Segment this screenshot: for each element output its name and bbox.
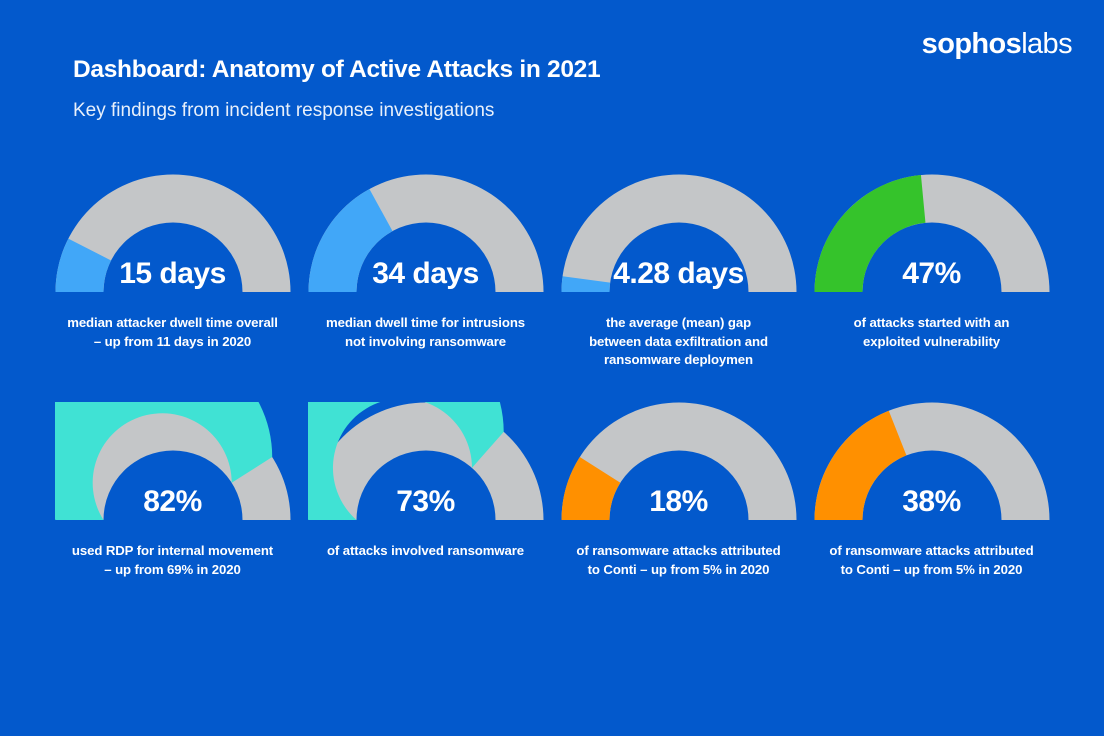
gauge-value-4: 82% [46, 485, 299, 519]
dashboard-header: Dashboard: Anatomy of Active Attacks in … [0, 0, 1104, 150]
gauge-card-0: 15 days median attacker dwell time overa… [46, 174, 299, 402]
gauge-value-6: 18% [552, 485, 805, 519]
gauge-caption-0: median attacker dwell time overall – up … [46, 314, 299, 351]
gauge-caption-3: of attacks started with an exploited vul… [805, 314, 1058, 351]
gauge-row-2: 82% used RDP for internal movement – up … [0, 402, 1104, 630]
gauge-value-3: 47% [805, 257, 1058, 291]
gauge-value-0: 15 days [46, 257, 299, 291]
dashboard-page: Dashboard: Anatomy of Active Attacks in … [0, 0, 1104, 736]
logo-labs-text: labs [1021, 28, 1072, 60]
page-title: Dashboard: Anatomy of Active Attacks in … [73, 56, 600, 84]
gauge-value-2: 4.28 days [552, 257, 805, 291]
logo-sophos-text: sophos [922, 28, 1022, 60]
gauge-value-5: 73% [299, 485, 552, 519]
gauge-caption-1: median dwell time for intrusions not inv… [299, 314, 552, 351]
gauge-card-7: 38% of ransomware attacks attributed to … [805, 402, 1058, 630]
gauge-card-6: 18% of ransomware attacks attributed to … [552, 402, 805, 630]
gauge-value-1: 34 days [299, 257, 552, 291]
gauge-caption-7: of ransomware attacks attributed to Cont… [805, 542, 1058, 579]
gauge-caption-6: of ransomware attacks attributed to Cont… [552, 542, 805, 579]
gauge-caption-4: used RDP for internal movement – up from… [46, 542, 299, 579]
gauge-card-5: 73% of attacks involved ransomware [299, 402, 552, 630]
gauge-caption-5: of attacks involved ransomware [299, 542, 552, 561]
gauge-card-2: 4.28 days the average (mean) gap between… [552, 174, 805, 402]
sophoslabs-logo: sophoslabs [922, 30, 1072, 59]
gauge-grid: 15 days median attacker dwell time overa… [0, 174, 1104, 630]
gauge-card-4: 82% used RDP for internal movement – up … [46, 402, 299, 630]
gauge-value-7: 38% [805, 485, 1058, 519]
gauge-caption-2: the average (mean) gap between data exfi… [552, 314, 805, 370]
gauge-card-3: 47% of attacks started with an exploited… [805, 174, 1058, 402]
gauge-row-1: 15 days median attacker dwell time overa… [0, 174, 1104, 402]
page-subtitle: Key findings from incident response inve… [73, 100, 494, 122]
gauge-card-1: 34 days median dwell time for intrusions… [299, 174, 552, 402]
